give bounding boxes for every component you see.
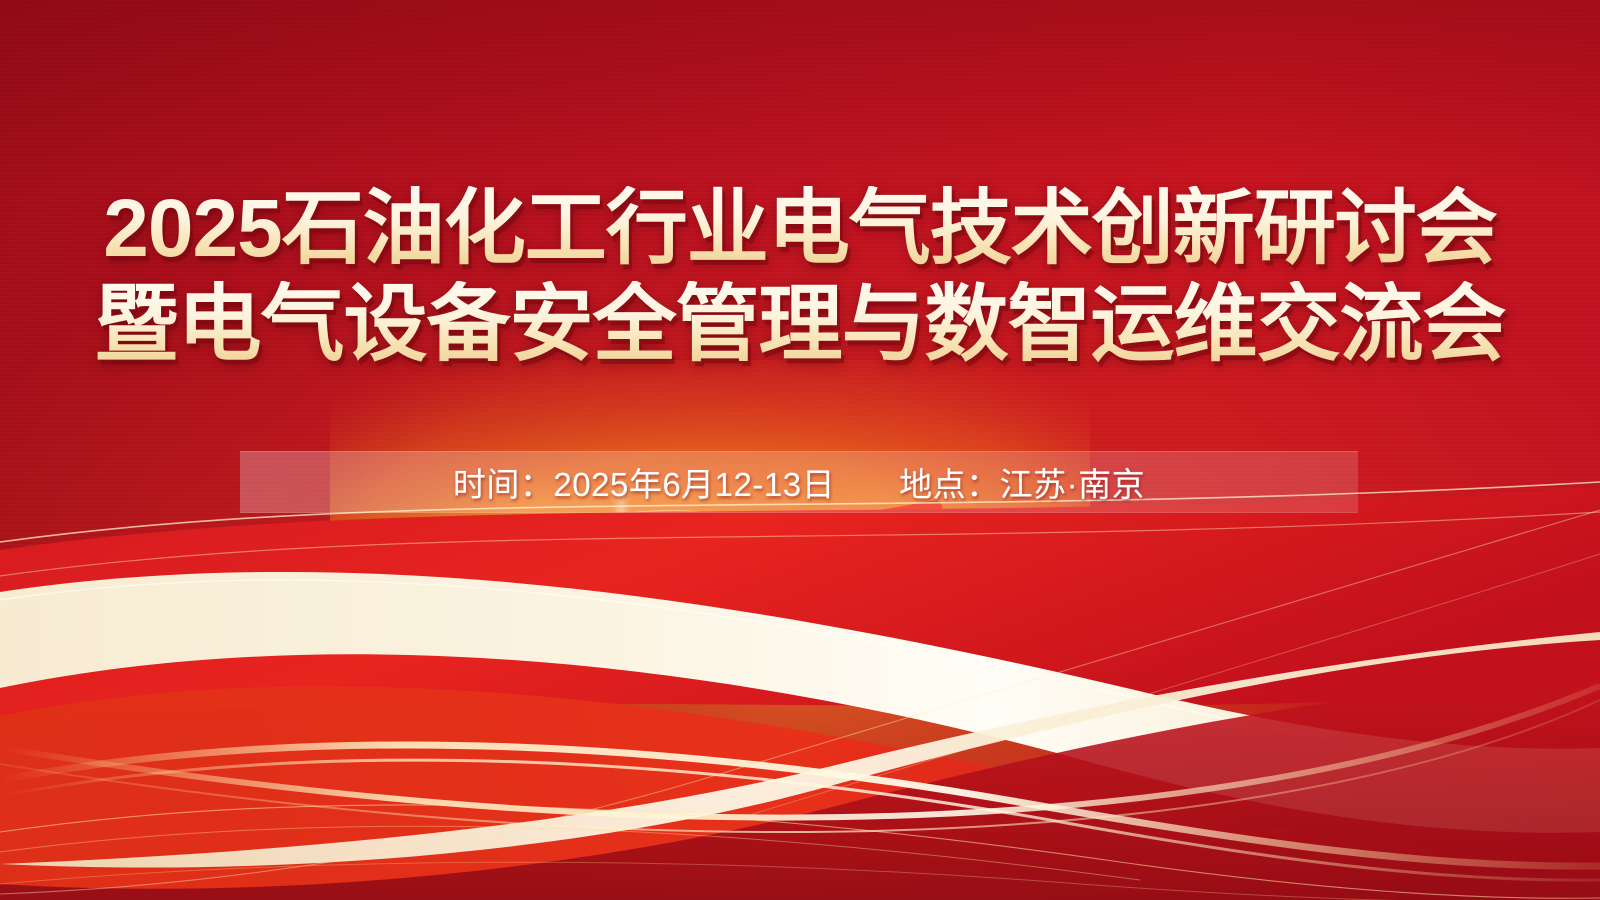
- event-time: 时间：2025年6月12-13日: [453, 458, 835, 506]
- event-location: 地点：江苏·南京: [899, 458, 1145, 506]
- event-info-bar: 时间：2025年6月12-13日 地点：江苏·南京: [240, 451, 1358, 513]
- conference-banner: 2025石油化工行业电气技术创新研讨会 暨电气设备安全管理与数智运维交流会 时间…: [0, 0, 1600, 900]
- flowing-ribbon-waves: [0, 480, 1600, 900]
